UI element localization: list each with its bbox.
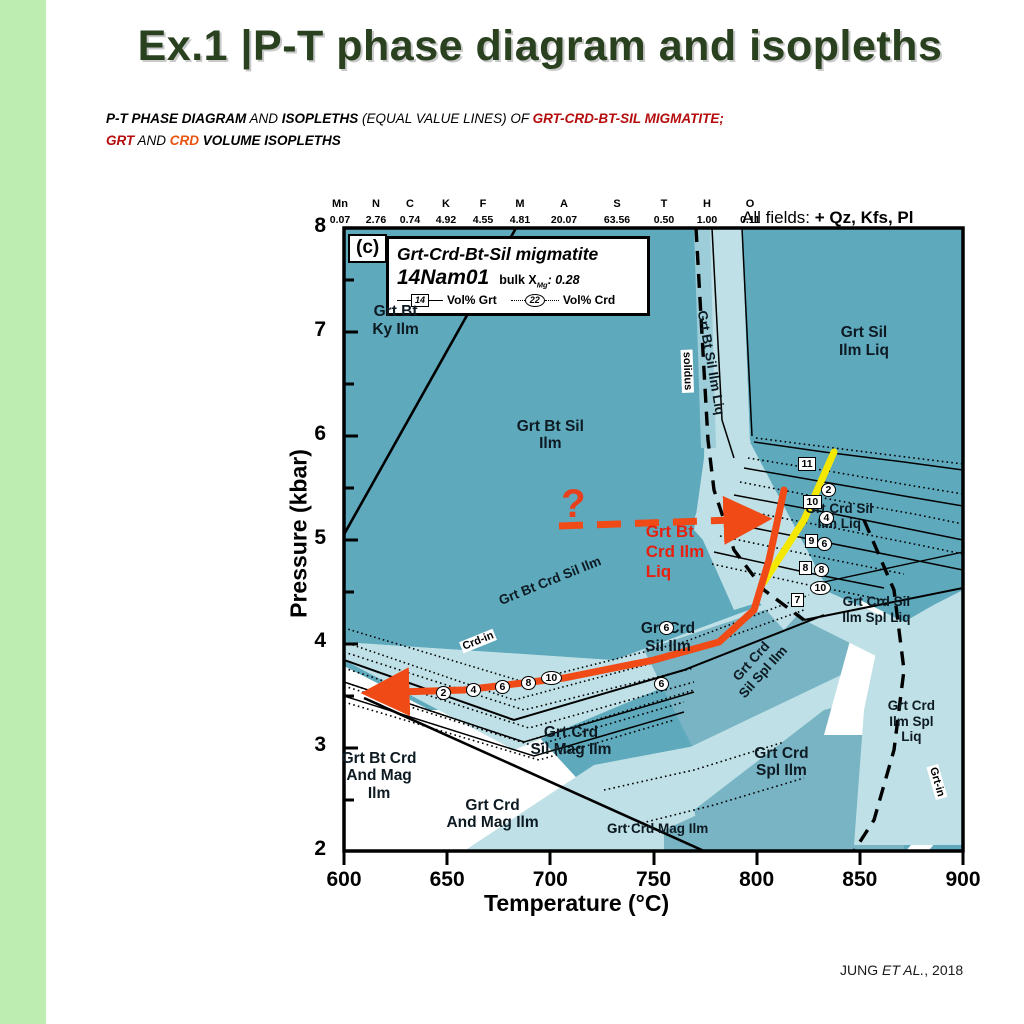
field-label-line: Grt Bt Sil (517, 418, 584, 435)
subtitle-part-1: P-T PHASE DIAGRAM (106, 111, 246, 126)
x-tick-750: 750 (619, 868, 689, 892)
field-label-line: Grt Crd (544, 724, 598, 741)
page-title: Ex.1 |P-T phase diagram and isopleths (100, 22, 980, 71)
field-label-line: Ky Ilm (372, 321, 419, 338)
x-tick-650: 650 (412, 868, 482, 892)
slide-root: Ex.1 |P-T phase diagram and isopleths P-… (0, 0, 1024, 1024)
isopleth-badge-crd-6-12: 6 (495, 680, 510, 694)
isopleth-badge-crd-2-5: 2 (821, 483, 836, 497)
pt-phase-diagram-figure: Mn0.07N2.76C0.74K4.92F4.55M4.81A20.07S63… (264, 190, 1004, 930)
slide-subtitle: P-T PHASE DIAGRAM AND ISOPLETHS (EQUAL V… (106, 108, 966, 152)
field-label-grt-crd-sil-ilm-spl-liq: Grt Crd SilIlm Spl Liq (796, 594, 956, 625)
y-tick-7: 7 (292, 318, 326, 342)
crd-isopleth-line-swatch-2 (545, 300, 559, 301)
crd-isopleth-badge: 22 (525, 294, 545, 307)
field-label-line: Grt Crd (754, 745, 808, 762)
field-label-grt-crd-ilm-spl-liq: Grt CrdIlm SplLiq (831, 698, 991, 745)
isopleth-badge-crd-4-6: 4 (819, 511, 834, 525)
x-axis-title: Temperature (°C) (484, 890, 669, 917)
field-label-line: And Mag Ilm (446, 814, 538, 831)
decorative-green-band (0, 0, 46, 1024)
subtitle-part-3: ISOPLETHS (282, 111, 359, 126)
isopleth-badge-grt-11-0: 11 (798, 457, 816, 471)
x-tick-700: 700 (515, 868, 585, 892)
isopleth-badge-crd-10-9: 10 (810, 581, 831, 595)
field-label-line: Ilm Liq (839, 342, 889, 359)
subtitle-part-9: VOLUME ISOPLETHS (199, 133, 341, 148)
field-label-line: And Mag (346, 767, 411, 784)
x-axis-ticks (344, 851, 963, 865)
field-label-line: Grt Bt (374, 303, 418, 320)
isopleth-badge-grt-7-4: 7 (791, 593, 804, 607)
legend-rock-name: Grt-Crd-Bt-Sil migmatite (397, 244, 639, 265)
isopleth-badge-crd-8-8: 8 (814, 563, 829, 577)
field-label-grt-crd-sil-ilm-liq: Grt Crd SilIlm Liq (759, 501, 919, 532)
field-label-line: Grt Crd Sil (843, 594, 911, 609)
inferred-path-question-mark: ? (561, 482, 585, 527)
field-label-grt-crd-mag-ilm: Grt Crd Mag Ilm (578, 821, 738, 837)
isopleth-badge-crd-4-11: 4 (466, 683, 481, 697)
legend-bulk-label: bulk X (499, 273, 537, 287)
field-label-line: Liq (901, 729, 921, 744)
field-label-line: Ilm (368, 785, 390, 802)
legend-key-crd: 22 (511, 294, 559, 307)
legend-sample-id: 14Nam01 (397, 266, 489, 290)
field-label-line: Ilm (539, 435, 561, 452)
subtitle-part-5: GRT-CRD-BT-SIL MIGMATITE; (533, 111, 724, 126)
legend-bulk-value: : 0.28 (548, 273, 580, 287)
field-label-line: Grt Sil (841, 324, 888, 341)
field-label-grt-bt-sil-ilm: Grt Bt SilIlm (470, 418, 630, 453)
isopleth-badge-crd-10-14: 10 (541, 671, 562, 685)
field-label-grt-crd-sil-mag-ilm: Grt CrdSil Mag Ilm (491, 724, 651, 759)
field-label-line: Spl Ilm (756, 762, 807, 779)
y-tick-8: 8 (292, 214, 326, 238)
source-citation: JUNG ET AL., 2018 (840, 962, 963, 978)
x-tick-850: 850 (825, 868, 895, 892)
field-label-grt-crd-spl-ilm: Grt CrdSpl Ilm (701, 745, 861, 780)
citation-year: , 2018 (924, 962, 963, 978)
field-label-line: Grt Crd (888, 698, 935, 713)
isopleth-badge-grt-8-3: 8 (799, 561, 812, 575)
y-tick-3: 3 (292, 733, 326, 757)
isopleth-badge-grt-9-2: 9 (805, 534, 818, 548)
x-tick-600: 600 (309, 868, 379, 892)
field-label-line: Crd Ilm (646, 542, 705, 561)
field-label-line: Liq (646, 562, 672, 581)
field-label-line: Sil Ilm (645, 638, 691, 655)
subtitle-part-7: AND (134, 133, 170, 148)
grt-isopleth-line-swatch-2 (429, 300, 443, 301)
isopleth-badge-grt-10-1: 10 (803, 495, 822, 509)
grt-isopleth-line-swatch (397, 300, 411, 301)
subtitle-part-8: CRD (170, 133, 199, 148)
subtitle-part-6: GRT (106, 133, 134, 148)
legend-bulk-sub: Mg (537, 281, 548, 290)
field-label-line: Grt Crd (465, 797, 519, 814)
isopleth-badge-crd-8-13: 8 (521, 676, 536, 690)
isopleth-badge-crd-2-10: 2 (436, 686, 451, 700)
y-tick-2: 2 (292, 837, 326, 861)
panel-letter: (c) (348, 234, 387, 263)
isopleth-badge-crd-6-16: 6 (659, 621, 674, 635)
field-label-line: Ilm Spl Liq (842, 610, 910, 625)
field-label-line: Ilm Spl (889, 714, 933, 729)
x-tick-800: 800 (722, 868, 792, 892)
legend-bulk-xmg: bulk XMg: 0.28 (499, 273, 579, 290)
x-tick-900: 900 (928, 868, 998, 892)
field-label-grt-bt-ky-ilm: Grt BtKy Ilm (316, 303, 476, 338)
field-label-line: Sil Mag Ilm (530, 741, 611, 758)
y-axis-title: Pressure (kbar) (286, 404, 313, 664)
field-label-line: Grt Crd Mag Ilm (607, 821, 708, 836)
isopleth-badge-crd-6-15: 6 (654, 677, 669, 691)
field-label-grt-bt-crd-and-mag-ilm: Grt Bt CrdAnd MagIlm (299, 750, 459, 803)
crd-isopleth-line-swatch (511, 300, 525, 301)
subtitle-part-4: (EQUAL VALUE LINES) OF (358, 111, 532, 126)
subtitle-part-2: AND (246, 111, 282, 126)
field-label-line: Grt Bt Crd (342, 750, 417, 767)
citation-etal: ET AL. (882, 962, 924, 978)
isopleth-badge-crd-6-7: 6 (817, 537, 832, 551)
citation-author: JUNG (840, 962, 882, 978)
line-label-solidus: solidus (681, 350, 694, 393)
field-label-line: Grt Bt (646, 522, 694, 541)
field-label-grt-sil-ilm-liq: Grt SilIlm Liq (784, 324, 944, 359)
legend-crd-label: Vol% Crd (563, 293, 615, 307)
